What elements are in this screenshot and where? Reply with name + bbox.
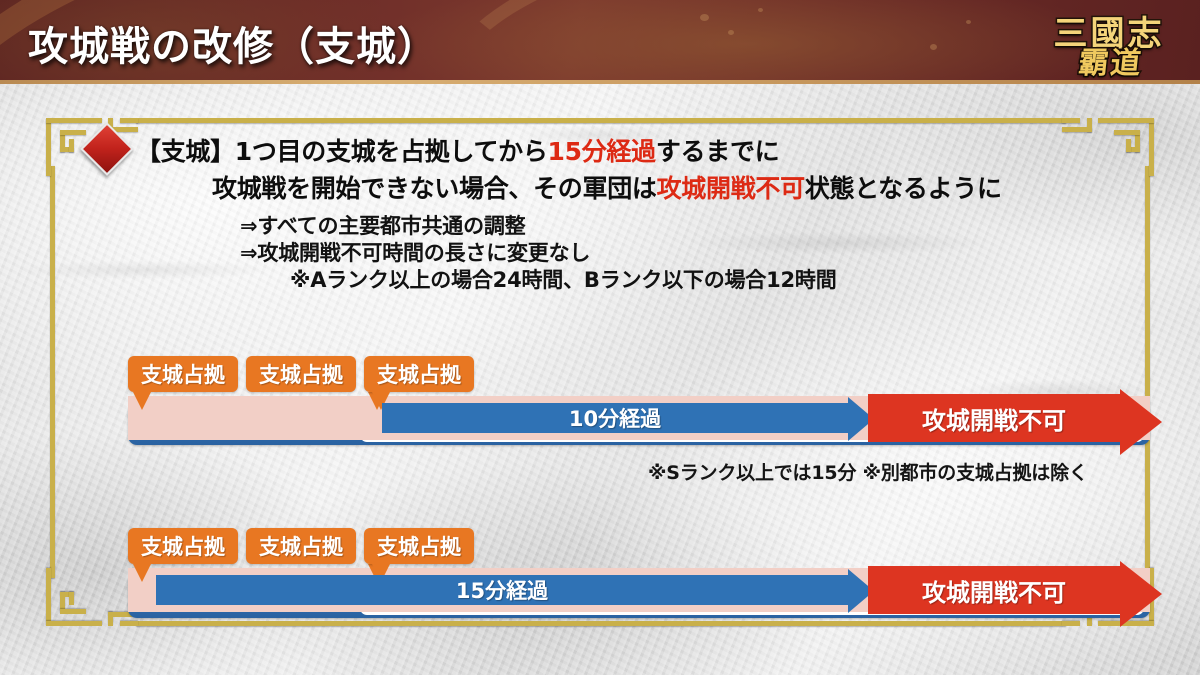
elapsed-bar-after-label: 15分経過 — [456, 575, 548, 605]
lead-line-1-pre: 【支城】1つ目の支城を占拠してから — [136, 137, 548, 166]
capture-tag-label: 支城占拠 — [259, 359, 343, 389]
sub-note-1: ⇒すべての主要都市共通の調整 — [240, 210, 526, 240]
capture-tag: 支城占拠 — [364, 528, 474, 564]
capture-tag: 支城占拠 — [246, 356, 356, 392]
elapsed-bar-before: 10分経過 — [382, 403, 848, 433]
capture-tag-label: 支城占拠 — [377, 531, 461, 561]
lead-line-2-post: 状態となるように — [805, 174, 1002, 203]
capture-tag: 支城占拠 — [128, 528, 238, 564]
header-fleck — [728, 30, 734, 35]
header-divider — [0, 80, 1200, 84]
section-before-note: ※Sランク以上では15分 ※別都市の支城占拠は除く — [648, 458, 1088, 485]
capture-tag-pointer — [133, 392, 151, 410]
capture-tag-label: 支城占拠 — [141, 531, 225, 561]
red-diamond-icon — [80, 122, 134, 176]
header-fleck — [700, 14, 709, 21]
sub-note-2: ⇒攻城開戦不可時間の長さに変更なし — [240, 237, 590, 267]
lead-line-1-post: するまでに — [656, 137, 780, 166]
capture-tag: 支城占拠 — [128, 356, 238, 392]
blocked-bar-after-label: 攻城開戦不可 — [922, 573, 1066, 608]
blocked-bar-before-arrowhead — [1120, 389, 1162, 455]
logo-line-2: 霸道 — [1034, 38, 1189, 80]
blocked-bar-before: 攻城開戦不可 — [868, 394, 1120, 442]
capture-tag-label: 支城占拠 — [259, 531, 343, 561]
blocked-bar-before-label: 攻城開戦不可 — [922, 401, 1066, 436]
capture-tag-label: 支城占拠 — [141, 359, 225, 389]
header-fleck — [966, 20, 971, 24]
lead-line-1: 【支城】1つ目の支城を占拠してから15分経過するまでに — [136, 132, 779, 168]
capture-tag: 支城占拠 — [364, 356, 474, 392]
blocked-bar-after: 攻城開戦不可 — [868, 566, 1120, 614]
page-title: 攻城戦の改修（支城） — [28, 14, 438, 72]
slide-content: 【支城】1つ目の支城を占拠してから15分経過するまでに 攻城戦を開始できない場合… — [40, 108, 1160, 636]
sub-note-3: ※Aランク以上の場合24時間、Bランク以下の場合12時間 — [290, 264, 837, 294]
header-fleck — [930, 44, 937, 50]
header-fleck — [758, 8, 763, 12]
lead-line-2-pre: 攻城戦を開始できない場合、その軍団は — [212, 174, 657, 203]
lead-line-2: 攻城戦を開始できない場合、その軍団は攻城開戦不可状態となるように — [212, 169, 1002, 205]
blocked-bar-after-arrowhead — [1120, 561, 1162, 627]
capture-tag-label: 支城占拠 — [377, 359, 461, 389]
game-logo: 三國志 霸道 — [1014, 4, 1190, 80]
header-bar: 攻城戦の改修（支城） 三國志 霸道 — [0, 0, 1200, 80]
elapsed-bar-before-label: 10分経過 — [569, 403, 661, 433]
header-swoosh-3 — [417, 0, 1012, 80]
capture-tag: 支城占拠 — [246, 528, 356, 564]
capture-tag-pointer — [133, 564, 151, 582]
lead-line-2-highlight: 攻城開戦不可 — [657, 174, 805, 203]
elapsed-bar-after: 15分経過 — [156, 575, 848, 605]
lead-line-1-highlight: 15分経過 — [548, 137, 656, 166]
